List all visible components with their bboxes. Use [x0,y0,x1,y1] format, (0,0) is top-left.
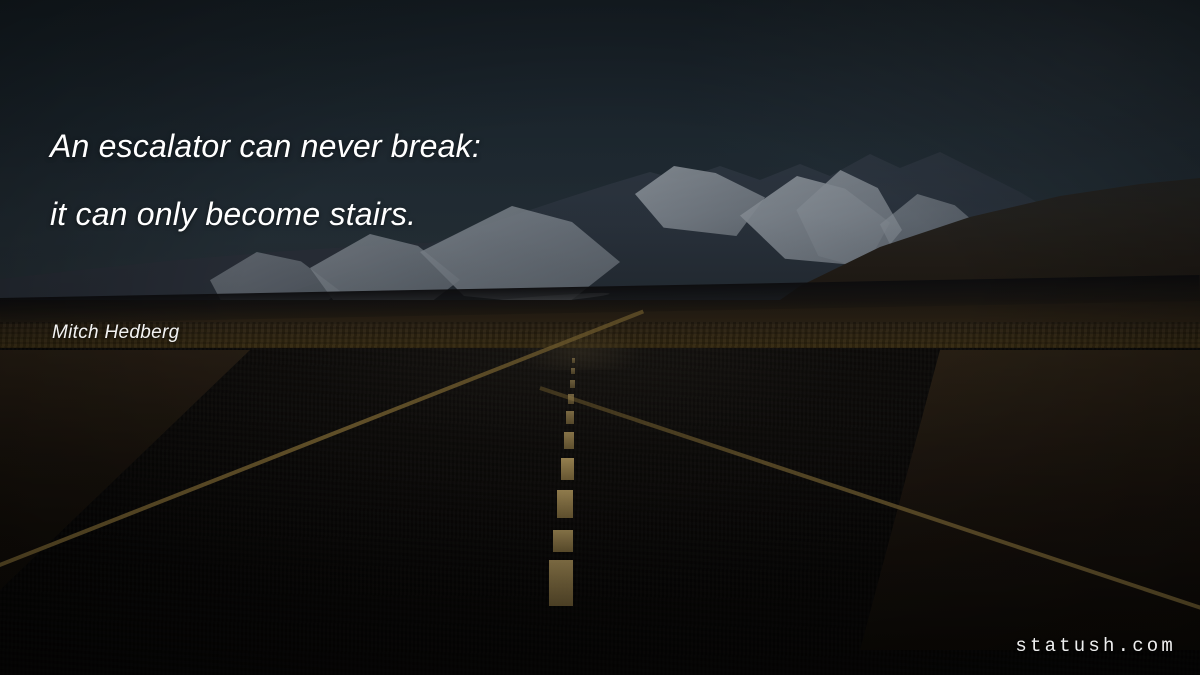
road-dash [566,411,574,424]
quote-text-block: An escalator can never break: it can onl… [50,112,810,248]
quote-card: An escalator can never break: it can onl… [0,0,1200,675]
road-dash [571,368,575,374]
quote-line-1: An escalator can never break: [50,112,810,180]
road-dash [572,358,575,363]
site-watermark: statush.com [1015,635,1176,657]
road-dash [568,394,574,404]
road-dash [564,432,574,449]
road-dash [557,490,573,518]
road-dash [570,380,575,388]
vanishing-point-glow [520,326,640,370]
quote-line-2: it can only become stairs. [50,180,810,248]
road-dash [549,560,573,606]
road-dash [561,458,574,480]
quote-author: Mitch Hedberg [52,322,179,344]
road-dash [553,530,573,552]
